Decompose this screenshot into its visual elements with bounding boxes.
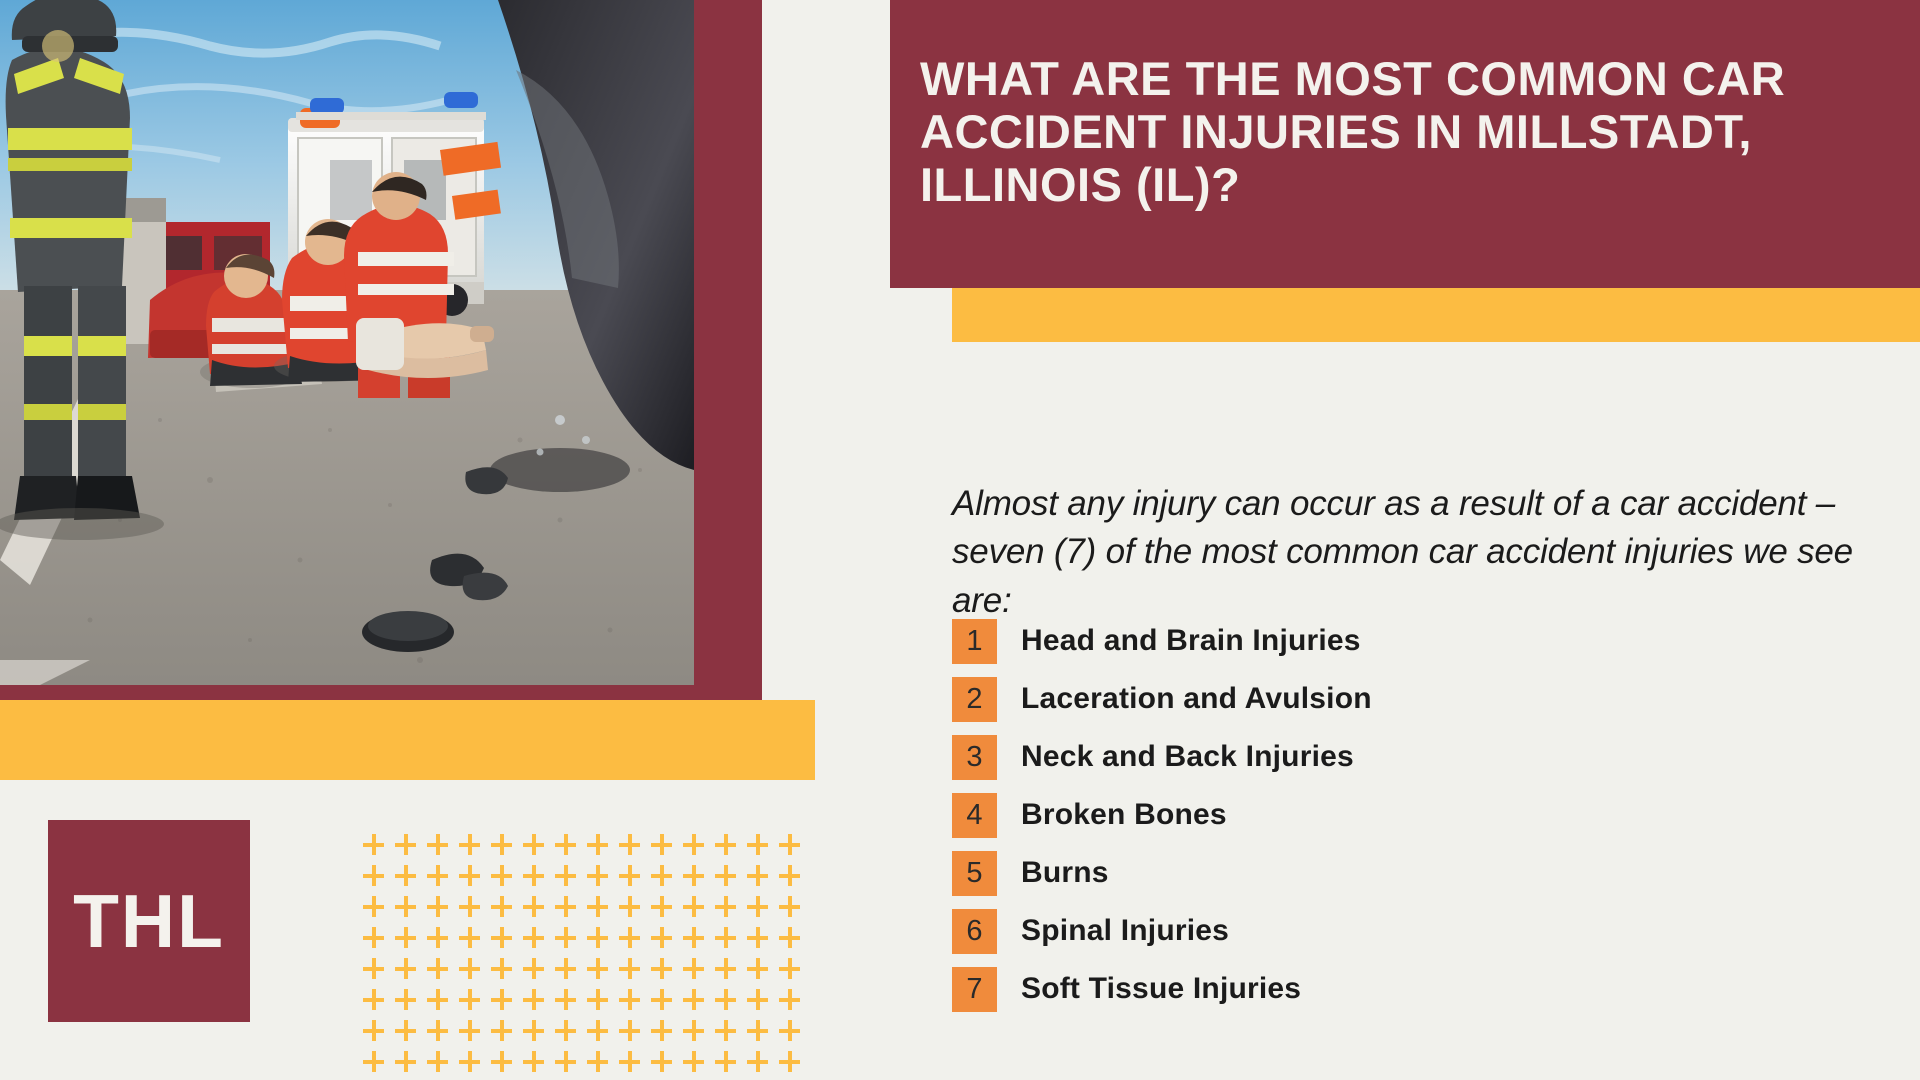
plus-icon xyxy=(419,923,451,954)
plus-icon xyxy=(675,861,707,892)
plus-icon xyxy=(579,954,611,985)
list-item: 4 Broken Bones xyxy=(952,786,1892,844)
list-number-badge: 5 xyxy=(952,851,997,896)
plus-icon xyxy=(579,1016,611,1047)
plus-icon xyxy=(739,892,771,923)
plus-icon xyxy=(483,1047,515,1078)
plus-icon xyxy=(387,923,419,954)
plus-icon xyxy=(707,892,739,923)
plus-icon xyxy=(451,923,483,954)
plus-icon xyxy=(643,830,675,861)
plus-icon xyxy=(355,1016,387,1047)
list-number-badge: 3 xyxy=(952,735,997,780)
list-item: 7 Soft Tissue Injuries xyxy=(952,960,1892,1018)
list-item: 6 Spinal Injuries xyxy=(952,902,1892,960)
plus-icon xyxy=(579,830,611,861)
list-number-badge: 1 xyxy=(952,619,997,664)
plus-icon xyxy=(579,1047,611,1078)
list-item: 5 Burns xyxy=(952,844,1892,902)
plus-icon xyxy=(547,985,579,1016)
plus-icon xyxy=(483,1016,515,1047)
plus-icon xyxy=(771,923,803,954)
plus-icon xyxy=(547,1016,579,1047)
infographic-canvas: What are the most common car accident in… xyxy=(0,0,1920,1080)
plus-icon xyxy=(739,985,771,1016)
header-yellow-accent-bar xyxy=(952,288,1920,342)
plus-icon xyxy=(675,1016,707,1047)
plus-icon xyxy=(771,892,803,923)
accident-scene-illustration xyxy=(0,0,694,685)
plus-icon xyxy=(643,954,675,985)
plus-icon xyxy=(483,892,515,923)
plus-pattern-decoration xyxy=(355,830,803,1078)
plus-icon xyxy=(451,830,483,861)
plus-icon xyxy=(707,1016,739,1047)
plus-icon xyxy=(547,892,579,923)
list-number-badge: 6 xyxy=(952,909,997,954)
plus-icon xyxy=(739,861,771,892)
plus-icon xyxy=(643,892,675,923)
plus-icon xyxy=(451,1047,483,1078)
plus-icon xyxy=(643,1016,675,1047)
plus-icon xyxy=(675,954,707,985)
plus-icon xyxy=(611,830,643,861)
plus-icon xyxy=(515,1047,547,1078)
plus-icon xyxy=(611,954,643,985)
plus-icon xyxy=(739,954,771,985)
plus-icon xyxy=(483,954,515,985)
list-item-label: Head and Brain Injuries xyxy=(1021,624,1361,658)
plus-icon xyxy=(355,954,387,985)
plus-icon xyxy=(739,830,771,861)
plus-icon xyxy=(675,892,707,923)
plus-icon xyxy=(419,954,451,985)
intro-paragraph: Almost any injury can occur as a result … xyxy=(952,480,1892,625)
plus-icon xyxy=(515,1016,547,1047)
plus-icon xyxy=(675,830,707,861)
plus-icon xyxy=(387,1016,419,1047)
plus-icon xyxy=(515,985,547,1016)
plus-icon xyxy=(771,1016,803,1047)
plus-icon xyxy=(643,1047,675,1078)
plus-icon xyxy=(515,861,547,892)
list-item: 3 Neck and Back Injuries xyxy=(952,728,1892,786)
plus-icon xyxy=(483,830,515,861)
plus-icon xyxy=(675,985,707,1016)
plus-icon xyxy=(419,830,451,861)
plus-icon xyxy=(611,861,643,892)
plus-icon xyxy=(739,1047,771,1078)
plus-icon xyxy=(515,923,547,954)
plus-icon xyxy=(675,1047,707,1078)
plus-icon xyxy=(547,954,579,985)
list-item: 1 Head and Brain Injuries xyxy=(952,612,1892,670)
plus-icon xyxy=(451,1016,483,1047)
plus-icon xyxy=(483,923,515,954)
plus-icon xyxy=(387,892,419,923)
plus-icon xyxy=(611,923,643,954)
list-item-label: Burns xyxy=(1021,856,1109,890)
plus-icon xyxy=(515,830,547,861)
injury-list: 1 Head and Brain Injuries 2 Laceration a… xyxy=(952,612,1892,1018)
thl-logo: THL xyxy=(48,820,250,1022)
plus-icon xyxy=(451,985,483,1016)
plus-icon xyxy=(355,830,387,861)
plus-icon xyxy=(611,892,643,923)
plus-icon xyxy=(547,1047,579,1078)
header-banner: What are the most common car accident in… xyxy=(890,0,1920,288)
plus-icon xyxy=(643,985,675,1016)
left-yellow-band xyxy=(0,700,815,780)
plus-icon xyxy=(771,861,803,892)
plus-icon xyxy=(611,985,643,1016)
accident-scene-photo xyxy=(0,0,694,685)
plus-icon xyxy=(611,1047,643,1078)
list-item-label: Broken Bones xyxy=(1021,798,1227,832)
list-item: 2 Laceration and Avulsion xyxy=(952,670,1892,728)
plus-icon xyxy=(419,861,451,892)
plus-icon xyxy=(579,892,611,923)
plus-icon xyxy=(707,954,739,985)
plus-icon xyxy=(419,1016,451,1047)
list-number-badge: 2 xyxy=(952,677,997,722)
plus-icon xyxy=(611,1016,643,1047)
plus-icon xyxy=(355,892,387,923)
plus-icon xyxy=(387,954,419,985)
list-item-label: Soft Tissue Injuries xyxy=(1021,972,1301,1006)
list-number-badge: 7 xyxy=(952,967,997,1012)
plus-icon xyxy=(451,954,483,985)
plus-icon xyxy=(419,892,451,923)
plus-icon xyxy=(419,1047,451,1078)
plus-icon xyxy=(771,985,803,1016)
plus-icon xyxy=(483,861,515,892)
plus-icon xyxy=(739,1016,771,1047)
plus-icon xyxy=(387,1047,419,1078)
plus-icon xyxy=(419,985,451,1016)
plus-icon xyxy=(547,923,579,954)
plus-icon xyxy=(771,830,803,861)
plus-icon xyxy=(707,923,739,954)
logo-text: THL xyxy=(73,884,225,959)
plus-icon xyxy=(707,861,739,892)
plus-icon xyxy=(483,985,515,1016)
plus-icon xyxy=(707,985,739,1016)
plus-icon xyxy=(451,861,483,892)
plus-icon xyxy=(515,954,547,985)
plus-icon xyxy=(515,892,547,923)
plus-icon xyxy=(355,985,387,1016)
plus-icon xyxy=(387,830,419,861)
list-item-label: Laceration and Avulsion xyxy=(1021,682,1372,716)
list-item-label: Spinal Injuries xyxy=(1021,914,1229,948)
list-item-label: Neck and Back Injuries xyxy=(1021,740,1354,774)
plus-icon xyxy=(579,985,611,1016)
plus-icon xyxy=(707,830,739,861)
plus-icon xyxy=(355,1047,387,1078)
plus-icon xyxy=(579,861,611,892)
plus-icon xyxy=(451,892,483,923)
plus-icon xyxy=(771,1047,803,1078)
plus-icon xyxy=(387,985,419,1016)
plus-icon xyxy=(579,923,611,954)
plus-icon xyxy=(643,861,675,892)
list-number-badge: 4 xyxy=(952,793,997,838)
plus-icon xyxy=(387,861,419,892)
plus-icon xyxy=(355,923,387,954)
plus-icon xyxy=(707,1047,739,1078)
plus-icon xyxy=(547,861,579,892)
plus-icon xyxy=(355,861,387,892)
plus-icon xyxy=(771,954,803,985)
plus-icon xyxy=(547,830,579,861)
plus-icon xyxy=(739,923,771,954)
plus-icon xyxy=(643,923,675,954)
plus-icon xyxy=(675,923,707,954)
page-title: What are the most common car accident in… xyxy=(890,52,1920,211)
